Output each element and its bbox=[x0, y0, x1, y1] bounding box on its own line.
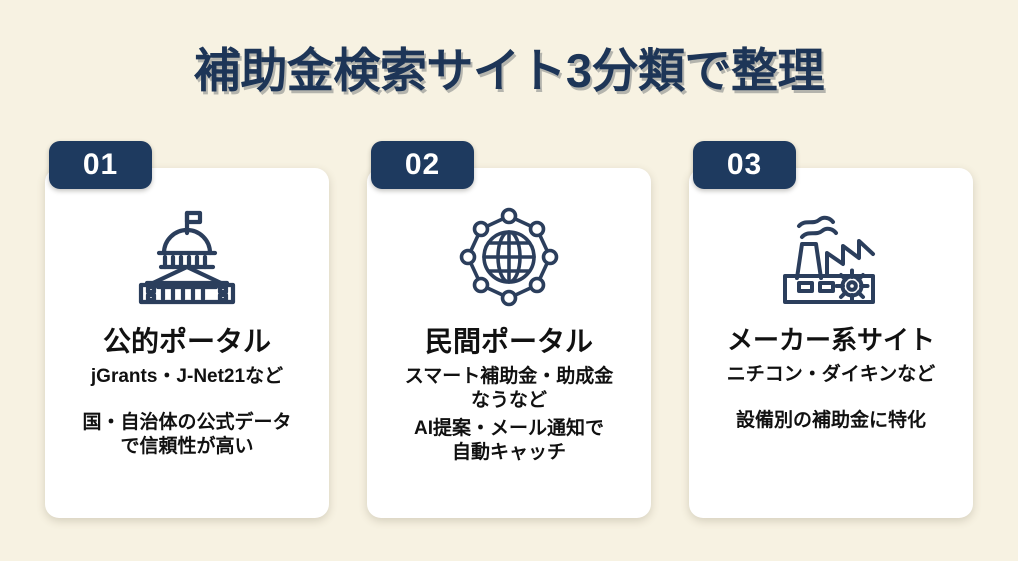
factory-gear-icon bbox=[771, 202, 891, 312]
card-description-line: 国・自治体の公式データ bbox=[82, 411, 291, 435]
card-subtitle: スマート補助金・助成金 なうなど bbox=[395, 365, 623, 413]
card-public-portal[interactable]: 01 bbox=[45, 168, 329, 518]
card-badge-number: 01 bbox=[49, 141, 152, 189]
card-description: 設備別の補助金に特化 bbox=[724, 409, 938, 433]
card-subtitle: ニチコン・ダイキンなど bbox=[717, 363, 945, 387]
card-maker-site[interactable]: 03 メーカー系サイト ニチコン・ダイキン bbox=[689, 168, 973, 518]
page-title: 補助金検索サイト3分類で整理 bbox=[0, 32, 1018, 101]
card-description-line: で信頼性が高い bbox=[82, 435, 291, 459]
card-description-line: 設備別の補助金に特化 bbox=[736, 409, 926, 433]
card-description-line: 自動キャッチ bbox=[414, 441, 604, 465]
card-subtitle-line: なうなど bbox=[405, 389, 613, 413]
card-subtitle-line: スマート補助金・助成金 bbox=[405, 365, 613, 389]
card-title: 民間ポータル bbox=[425, 326, 593, 358]
card-badge-number: 03 bbox=[693, 141, 796, 189]
card-subtitle: jGrants・J-Net21など bbox=[81, 365, 293, 389]
card-description: 国・自治体の公式データ で信頼性が高い bbox=[70, 411, 303, 460]
card-description-line: AI提案・メール通知で bbox=[414, 417, 604, 441]
card-title: メーカー系サイト bbox=[727, 326, 935, 356]
card-grid: 01 bbox=[45, 168, 973, 518]
card-description: AI提案・メール通知で 自動キャッチ bbox=[402, 417, 616, 466]
card-badge-number: 02 bbox=[371, 141, 474, 189]
globe-network-icon bbox=[449, 202, 569, 312]
card-private-portal[interactable]: 02 bbox=[367, 168, 651, 518]
card-title: 公的ポータル bbox=[103, 326, 271, 358]
government-building-icon bbox=[127, 202, 247, 312]
